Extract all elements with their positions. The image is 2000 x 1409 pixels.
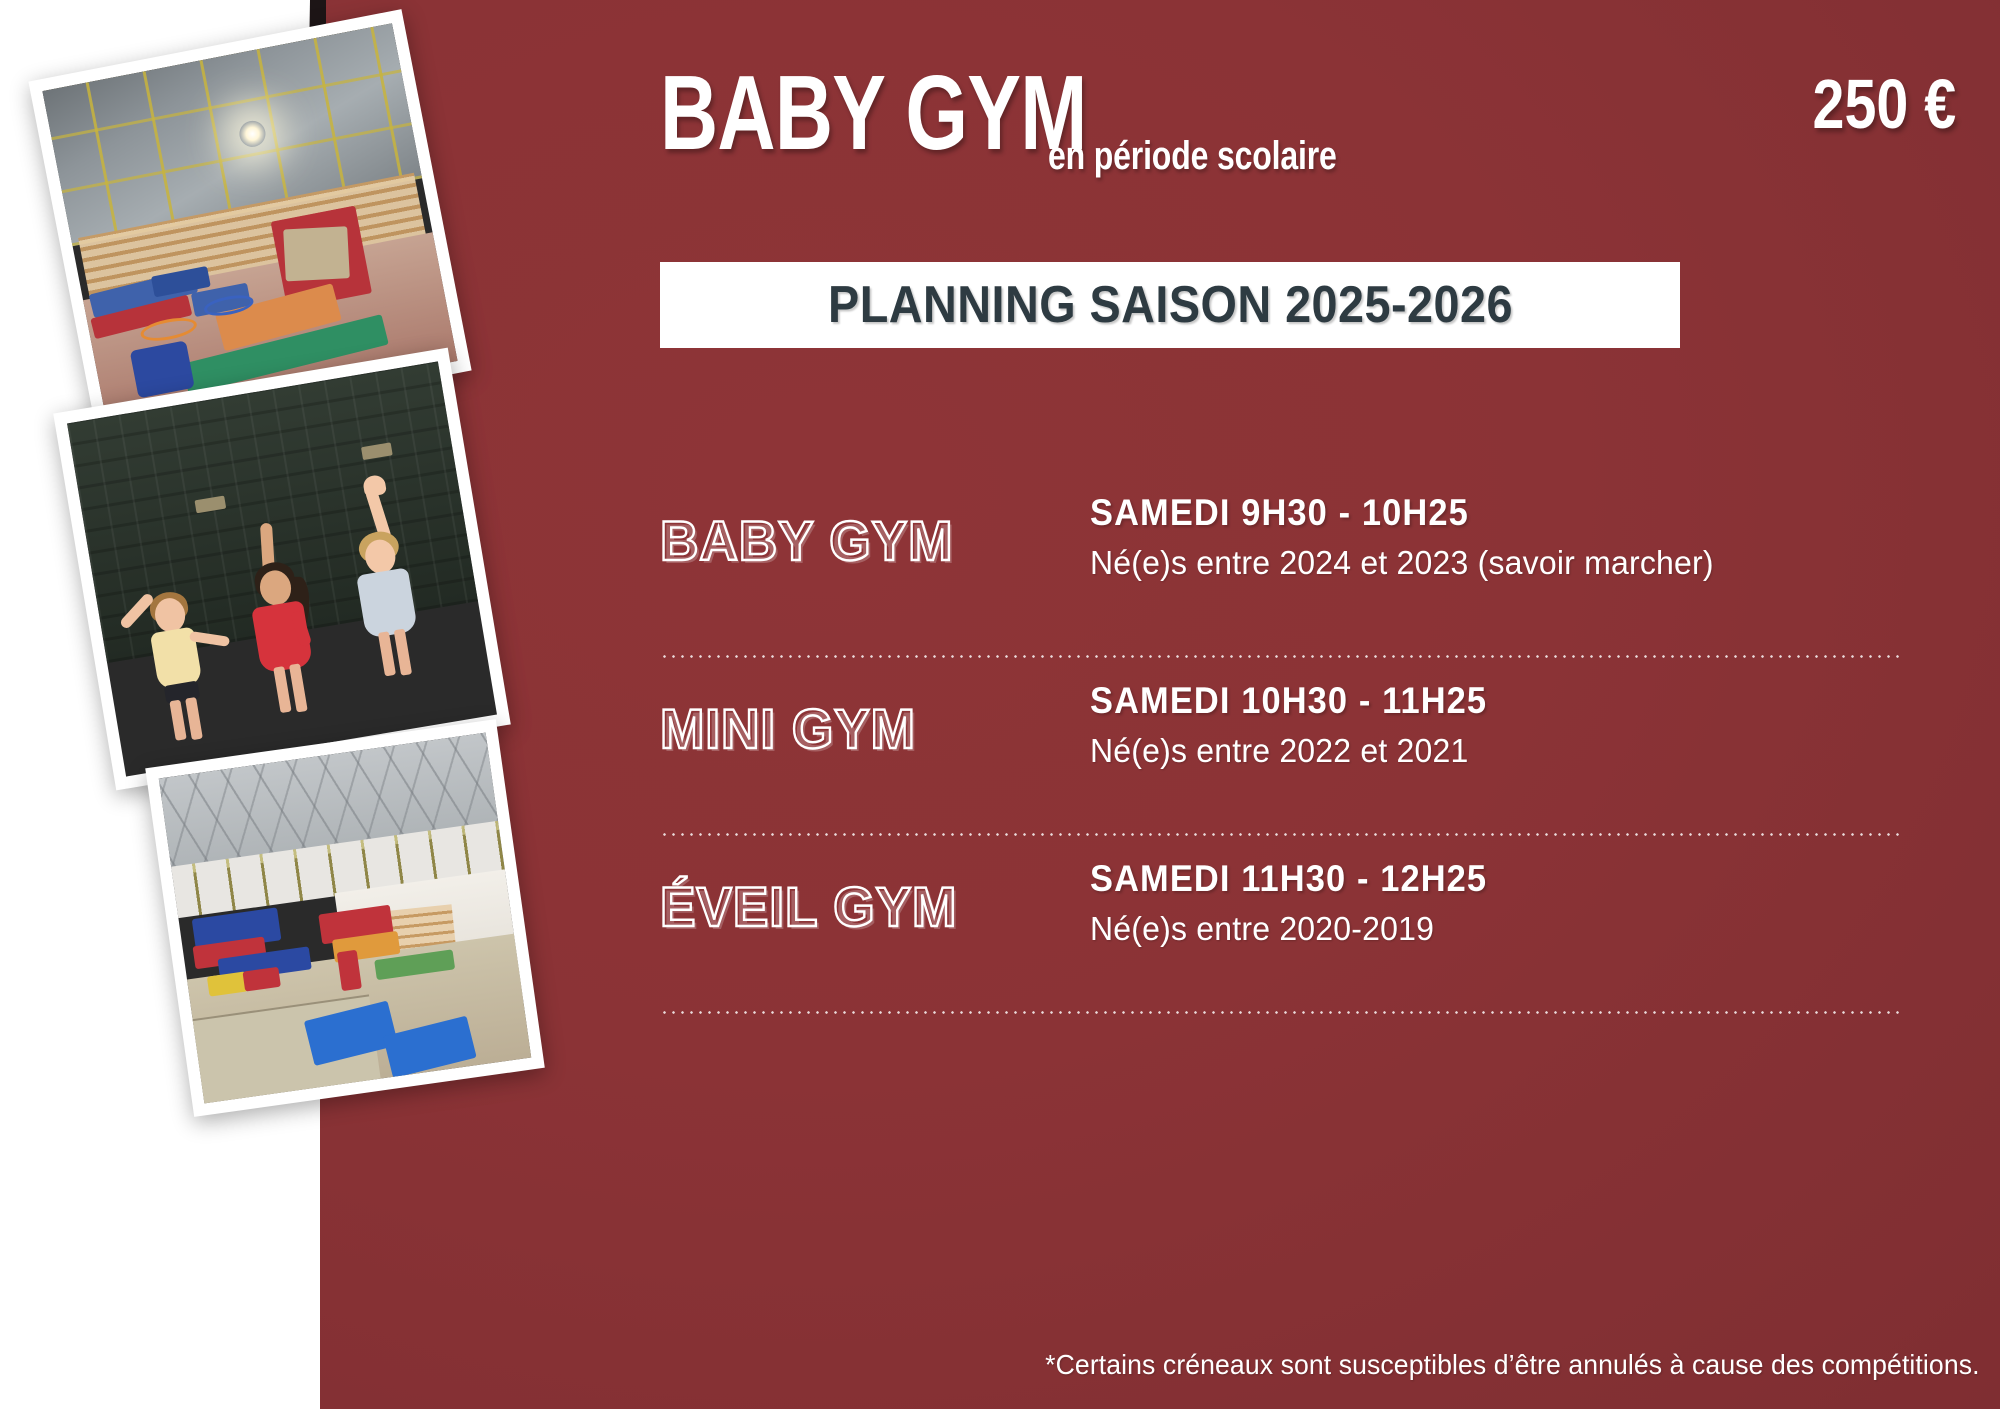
header-block: BABY GYM en période scolaire 250 € [660, 42, 1980, 172]
schedule-time: SAMEDI 10H30 - 11H25 [1090, 680, 1843, 722]
schedule-details: SAMEDI 9H30 - 10H25 Né(e)s entre 2024 et… [1090, 480, 1900, 582]
row-divider [660, 1011, 1900, 1014]
schedule-birth-years: Né(e)s entre 2024 et 2023 (savoir marche… [1090, 544, 1876, 582]
schedule-details: SAMEDI 11H30 - 12H25 Né(e)s entre 2020-2… [1090, 836, 1900, 948]
schedule-category: MINI GYM [660, 658, 1069, 761]
footnote-text: *Certains créneaux sont susceptibles d’ê… [1046, 1349, 1980, 1381]
page-title: BABY GYM [660, 60, 1087, 166]
schedule-birth-years: Né(e)s entre 2022 et 2021 [1090, 732, 1876, 770]
poster-content: BABY GYM en période scolaire 250 € PLANN… [0, 0, 2000, 1409]
schedule-row: MINI GYM SAMEDI 10H30 - 11H25 Né(e)s ent… [660, 658, 1900, 836]
schedule-list: BABY GYM SAMEDI 9H30 - 10H25 Né(e)s entr… [660, 480, 1900, 1014]
schedule-details: SAMEDI 10H30 - 11H25 Né(e)s entre 2022 e… [1090, 658, 1900, 770]
season-banner: PLANNING SAISON 2025-2026 [660, 262, 1680, 348]
price-label: 250 € [1812, 64, 1956, 144]
schedule-time: SAMEDI 9H30 - 10H25 [1090, 492, 1843, 534]
season-banner-text: PLANNING SAISON 2025-2026 [828, 275, 1513, 335]
header-subtitle: en période scolaire [1048, 134, 1337, 179]
schedule-birth-years: Né(e)s entre 2020-2019 [1090, 910, 1876, 948]
schedule-category: BABY GYM [660, 480, 1069, 573]
schedule-row: BABY GYM SAMEDI 9H30 - 10H25 Né(e)s entr… [660, 480, 1900, 658]
poster-canvas: BABY GYM en période scolaire 250 € PLANN… [0, 0, 2000, 1409]
schedule-time: SAMEDI 11H30 - 12H25 [1090, 858, 1843, 900]
schedule-row: ÉVEIL GYM SAMEDI 11H30 - 12H25 Né(e)s en… [660, 836, 1900, 1014]
schedule-category: ÉVEIL GYM [660, 836, 1069, 939]
